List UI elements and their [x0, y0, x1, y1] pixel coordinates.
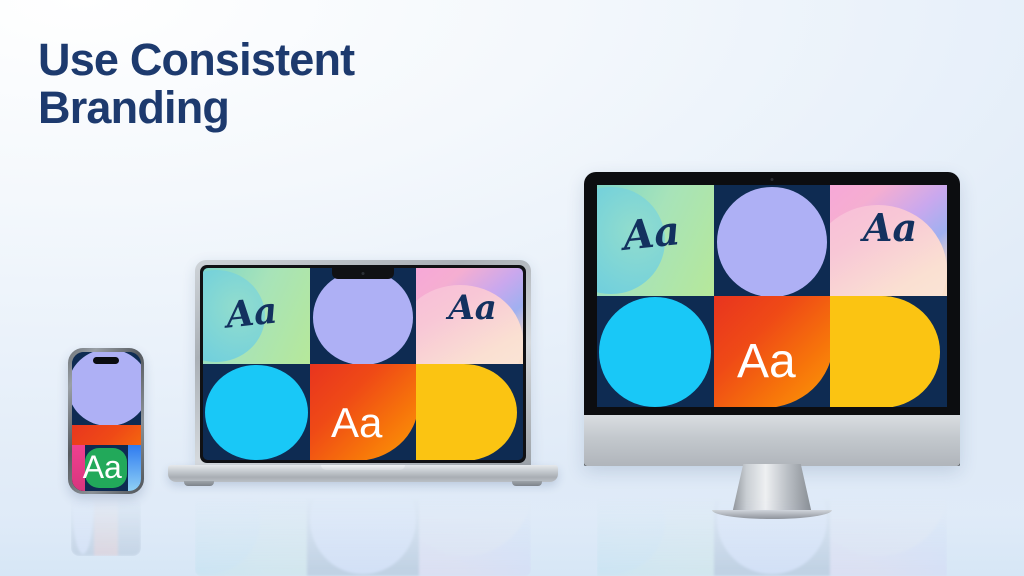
script-aa-glyph: Aa	[621, 211, 682, 257]
purple-circle-shape	[313, 270, 413, 364]
cyan-circle-shape	[205, 365, 307, 460]
purple-circle-shape	[72, 496, 94, 554]
mint-circle-shape	[597, 496, 665, 574]
orange-blob-shape	[94, 496, 117, 556]
art-cell-6	[830, 296, 947, 407]
art-cell-3	[830, 496, 947, 576]
phone-reflection-art	[71, 496, 141, 556]
sans-aa-glyph: Aa	[737, 338, 796, 386]
art-cell-5	[94, 496, 117, 556]
art-cell-1: Aa	[597, 185, 714, 296]
monitor-screen: Aa Aa Aa	[597, 185, 947, 407]
art-cell-2	[310, 268, 417, 364]
serif-aa-glyph: Aa	[863, 209, 917, 247]
art-cell-6	[416, 364, 523, 460]
art-cell-1	[597, 496, 714, 576]
laptop-bezel: Aa Aa Aa	[200, 265, 526, 463]
art-cell-3: Aa	[830, 185, 947, 296]
art-cell-2	[71, 496, 94, 556]
laptop-foot-left	[184, 481, 214, 486]
laptop-reflection: Aa	[195, 496, 531, 576]
mint-circle-shape	[195, 496, 260, 574]
device-monitor[interactable]: Aa Aa Aa	[584, 172, 960, 492]
art-cell-4	[203, 364, 310, 460]
yellow-pill-shape	[830, 296, 940, 407]
phone-blue-sliver	[128, 445, 141, 491]
art-cell-5: Aa	[714, 296, 831, 407]
pink-rounded-shape	[830, 496, 947, 556]
art-cell-2	[714, 185, 831, 296]
laptop-screen: Aa Aa Aa	[203, 268, 523, 460]
device-laptop[interactable]: Aa Aa Aa	[168, 260, 558, 492]
art-cell-5: Aa	[310, 364, 417, 460]
purple-circle-shape	[717, 187, 827, 296]
laptop-foot-right	[512, 481, 542, 486]
phone-reflection	[71, 496, 141, 556]
dynamic-island	[93, 357, 119, 364]
monitor-stand-neck	[732, 464, 812, 514]
laptop-base	[168, 465, 558, 482]
cyan-circle-shape	[599, 297, 711, 407]
phone-screen: Aa Aa Aa	[72, 352, 141, 491]
art-cell-2	[307, 496, 419, 576]
monitor-chin	[584, 415, 960, 466]
script-aa-glyph: Aa	[225, 292, 280, 333]
purple-circle-shape	[310, 496, 415, 574]
monitor-stand-foot	[712, 510, 832, 519]
sans-aa-glyph: Aa	[331, 402, 382, 444]
laptop-artwork: Aa Aa Aa	[203, 268, 523, 460]
art-cell-4	[597, 296, 714, 407]
monitor-artwork: Aa Aa Aa	[597, 185, 947, 407]
art-cell-1	[195, 496, 307, 576]
art-cell-1: Aa	[203, 268, 310, 364]
pink-rounded-shape	[419, 496, 531, 556]
serif-aa-glyph: Aa	[448, 291, 496, 325]
laptop-reflection-art: Aa	[195, 496, 531, 576]
laptop-lid: Aa Aa Aa	[195, 260, 531, 468]
device-phone[interactable]: Aa Aa Aa	[68, 348, 144, 494]
art-cell-3	[419, 496, 531, 576]
sans-aa-glyph: Aa	[83, 451, 122, 483]
yellow-pill-shape	[416, 364, 516, 460]
webcam-icon	[771, 178, 774, 181]
page-title: Use Consistent Branding	[38, 36, 354, 132]
slide-canvas: Use Consistent Branding Aa Aa	[0, 0, 1024, 576]
laptop-notch	[332, 268, 394, 279]
art-cell-3: Aa	[416, 268, 523, 364]
